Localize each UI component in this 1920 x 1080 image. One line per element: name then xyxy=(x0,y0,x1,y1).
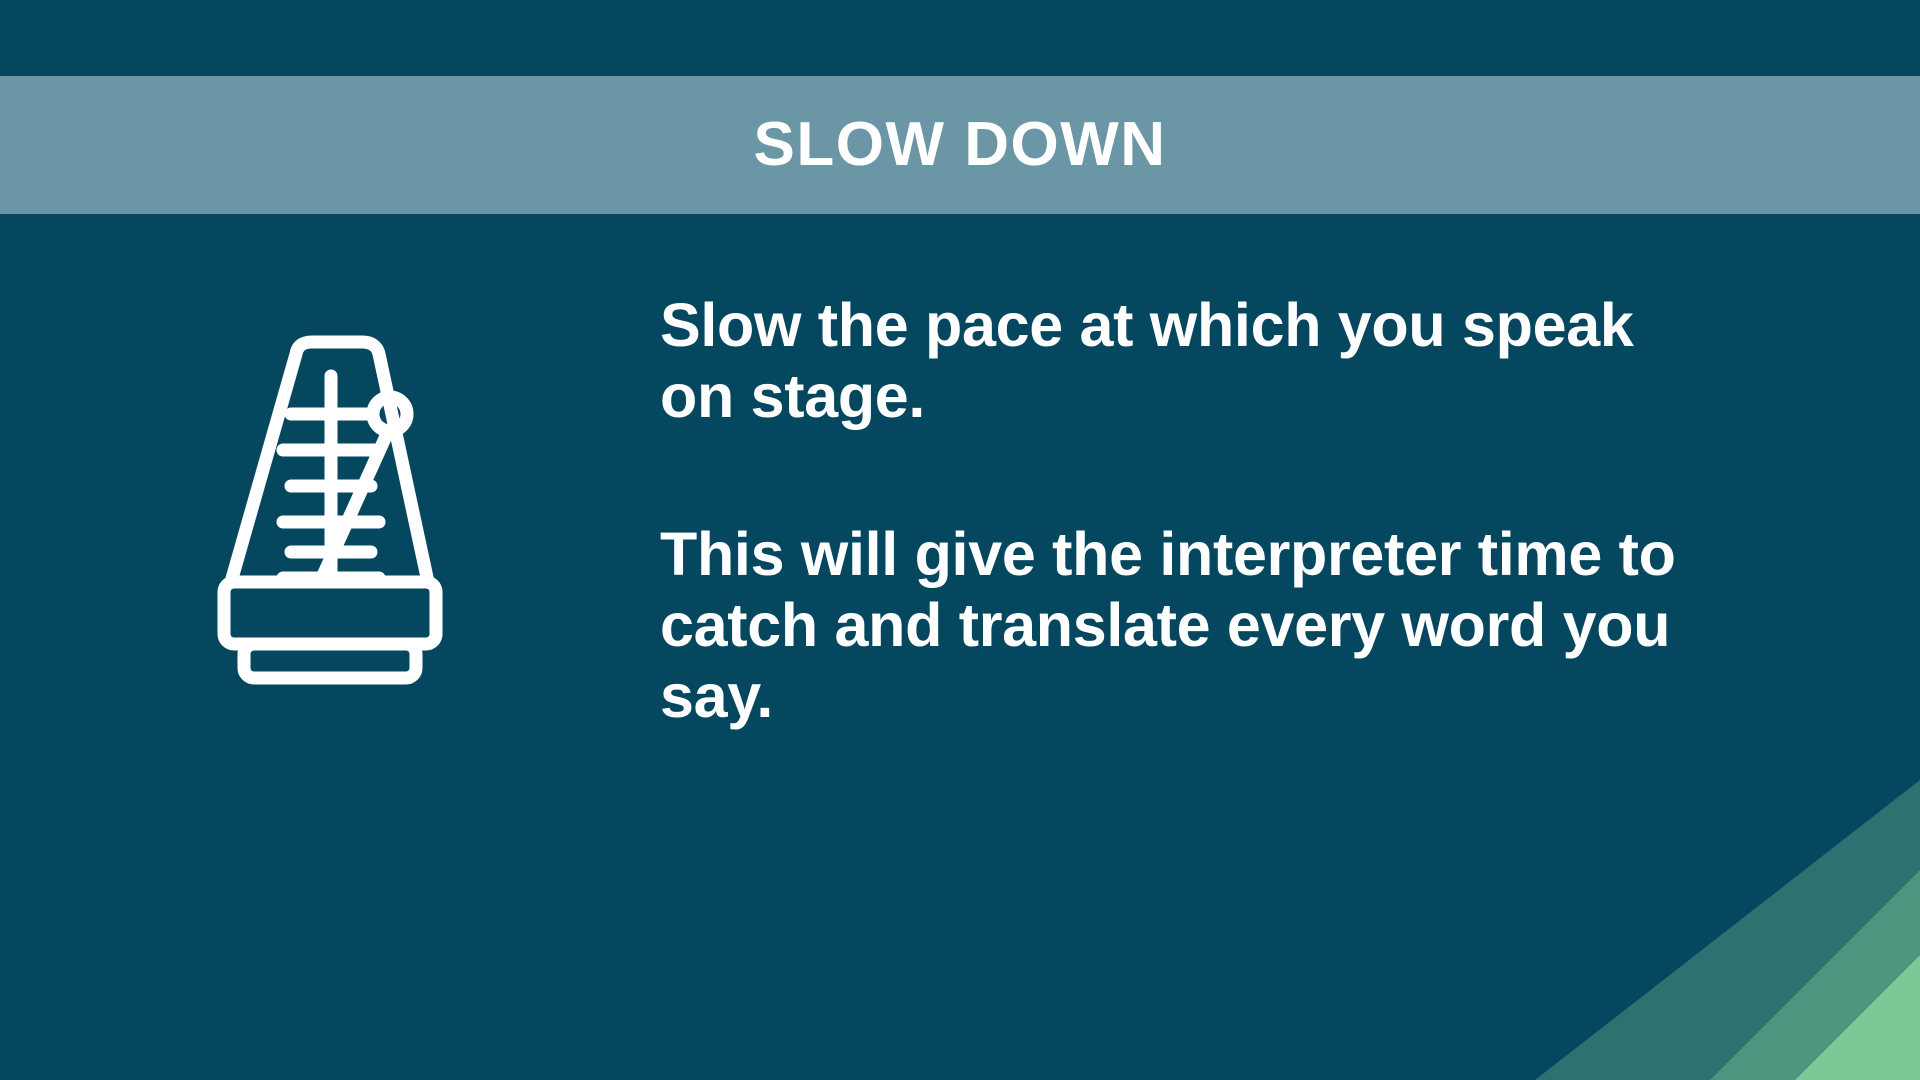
metronome-icon xyxy=(200,314,460,734)
title-band: SLOW DOWN xyxy=(0,76,1920,214)
slide-body: Slow the pace at which you speak on stag… xyxy=(0,214,1920,1080)
metronome-foot xyxy=(244,644,416,678)
body-paragraph-1: Slow the pace at which you speak on stag… xyxy=(660,290,1680,433)
body-paragraph-2: This will give the interpreter time to c… xyxy=(660,519,1680,733)
page-title: SLOW DOWN xyxy=(714,114,1207,176)
icon-column xyxy=(0,214,660,734)
slide-canvas: SLOW DOWN xyxy=(0,0,1920,1080)
text-column: Slow the pace at which you speak on stag… xyxy=(660,214,1920,733)
metronome-base xyxy=(224,582,436,644)
